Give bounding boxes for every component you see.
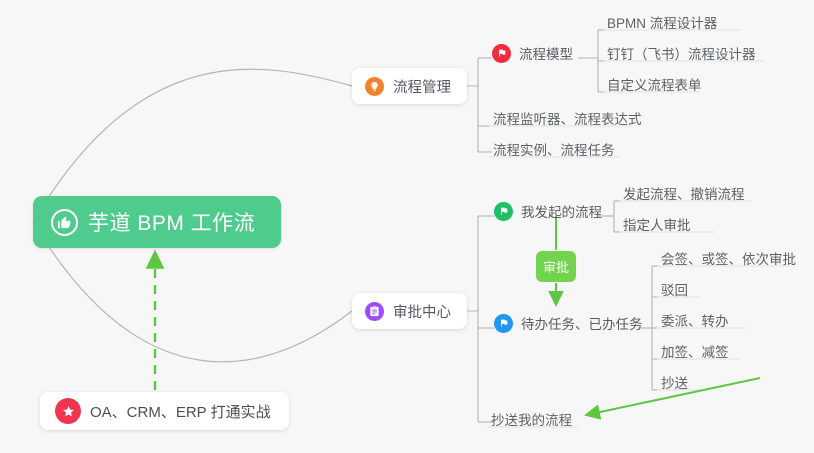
subnode-label: 待办任务、已办任务 xyxy=(521,313,643,333)
flag-icon xyxy=(494,314,513,333)
annotation-approval-box: 审批 xyxy=(536,251,576,282)
leaf-node[interactable]: 加签、减签 xyxy=(657,339,739,366)
subnode-todo-done-tasks[interactable]: 待办任务、已办任务 xyxy=(494,313,643,333)
leaf-node[interactable]: 抄送 xyxy=(657,370,698,397)
subnode-flow-model[interactable]: 流程模型 xyxy=(492,43,573,63)
leaf-node[interactable]: 自定义流程表单 xyxy=(603,72,712,99)
clipboard-icon xyxy=(365,302,384,321)
leaf-node[interactable]: 流程监听器、流程表达式 xyxy=(489,106,652,133)
subnode-my-started-processes[interactable]: 我发起的流程 xyxy=(494,201,602,221)
leaf-node[interactable]: 流程实例、流程任务 xyxy=(489,137,625,164)
leaf-node[interactable]: 钉钉（飞书）流程设计器 xyxy=(603,41,766,68)
thumbs-up-icon xyxy=(51,209,78,236)
floating-node-integration[interactable]: OA、CRM、ERP 打通实战 xyxy=(40,392,289,430)
root-node-label: 芋道 BPM 工作流 xyxy=(88,207,255,237)
leaf-node[interactable]: BPMN 流程设计器 xyxy=(603,10,727,37)
subnode-label: 流程模型 xyxy=(519,43,573,63)
branch-node-approval-center[interactable]: 审批中心 xyxy=(352,293,467,329)
branch-node-label: 审批中心 xyxy=(393,301,451,322)
leaf-node[interactable]: 委派、转办 xyxy=(657,308,739,335)
flag-icon xyxy=(492,44,511,63)
annotation-label: 审批 xyxy=(543,257,569,276)
leaf-node[interactable]: 会签、或签、依次审批 xyxy=(657,246,806,273)
mindmap-canvas: 芋道 BPM 工作流 流程管理 审批中心 OA、CRM、ERP 打通实战 xyxy=(0,0,814,453)
floating-node-label: OA、CRM、ERP 打通实战 xyxy=(90,401,271,422)
leaf-node[interactable]: 发起流程、撤销流程 xyxy=(619,181,755,208)
branch-node-process-management[interactable]: 流程管理 xyxy=(352,68,467,104)
root-node[interactable]: 芋道 BPM 工作流 xyxy=(33,196,281,248)
leaf-node[interactable]: 抄送我的流程 xyxy=(487,407,582,434)
leaf-node[interactable]: 指定人审批 xyxy=(619,212,701,239)
star-icon xyxy=(55,398,81,424)
branch-node-label: 流程管理 xyxy=(393,76,451,97)
subnode-label: 我发起的流程 xyxy=(521,201,602,221)
leaf-node[interactable]: 驳回 xyxy=(657,277,698,304)
flag-icon xyxy=(494,202,513,221)
lightbulb-icon xyxy=(365,77,384,96)
